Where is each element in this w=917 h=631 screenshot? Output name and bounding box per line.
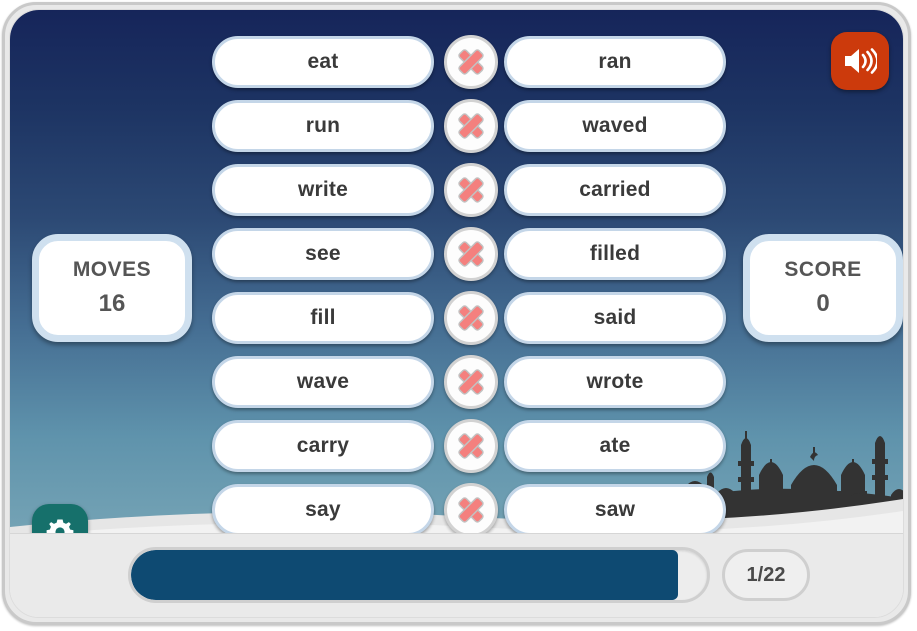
word-pair-row: seefilled (212, 228, 726, 280)
moves-panel: MOVES 16 (32, 234, 192, 342)
progress-bar[interactable] (128, 547, 710, 603)
word-pill-right[interactable]: saw (504, 484, 726, 536)
score-value: 0 (816, 290, 829, 318)
word-pill-right[interactable]: carried (504, 164, 726, 216)
x-icon[interactable] (444, 483, 498, 537)
word-pill-left[interactable]: say (212, 484, 434, 536)
game-screen: MOVES 16 SCORE 0 (0, 0, 917, 631)
x-glyph (459, 50, 483, 74)
x-icon[interactable] (444, 163, 498, 217)
moves-label: MOVES (73, 258, 151, 282)
word-pair-row: saysaw (212, 484, 726, 536)
play-area: MOVES 16 SCORE 0 (10, 10, 903, 557)
word-pill-right[interactable]: waved (504, 100, 726, 152)
progress-area: 1/22 (128, 547, 810, 603)
x-glyph (459, 498, 483, 522)
word-pill-left[interactable]: eat (212, 36, 434, 88)
x-glyph (459, 114, 483, 138)
word-pair-row: eatran (212, 36, 726, 88)
speaker-icon (843, 46, 877, 76)
word-pair-row: runwaved (212, 100, 726, 152)
x-icon[interactable] (444, 419, 498, 473)
word-pill-left[interactable]: carry (212, 420, 434, 472)
sound-button[interactable] (831, 32, 889, 90)
moves-value: 16 (99, 290, 126, 318)
word-pair-row: fillsaid (212, 292, 726, 344)
word-pill-right[interactable]: ran (504, 36, 726, 88)
word-pair-row: carryate (212, 420, 726, 472)
progress-bar-fill (131, 550, 678, 600)
word-pill-left[interactable]: wave (212, 356, 434, 408)
score-panel: SCORE 0 (743, 234, 903, 342)
game-frame: MOVES 16 SCORE 0 (2, 2, 911, 625)
word-pair-row: wavewrote (212, 356, 726, 408)
word-pill-right[interactable]: ate (504, 420, 726, 472)
word-pill-left[interactable]: write (212, 164, 434, 216)
game-frame-inner: MOVES 16 SCORE 0 (9, 9, 904, 618)
x-glyph (459, 370, 483, 394)
word-pill-left[interactable]: fill (212, 292, 434, 344)
x-icon[interactable] (444, 291, 498, 345)
x-glyph (459, 434, 483, 458)
word-pill-right[interactable]: said (504, 292, 726, 344)
progress-badge: 1/22 (722, 549, 810, 601)
x-icon[interactable] (444, 227, 498, 281)
x-icon[interactable] (444, 355, 498, 409)
word-pair-row: writecarried (212, 164, 726, 216)
x-glyph (459, 242, 483, 266)
x-glyph (459, 178, 483, 202)
word-pill-right[interactable]: filled (504, 228, 726, 280)
word-pill-right[interactable]: wrote (504, 356, 726, 408)
score-label: SCORE (784, 258, 861, 282)
word-pill-left[interactable]: run (212, 100, 434, 152)
x-icon[interactable] (444, 99, 498, 153)
x-glyph (459, 306, 483, 330)
bottom-bar: 1/22 (10, 533, 903, 617)
word-pill-left[interactable]: see (212, 228, 434, 280)
x-icon[interactable] (444, 35, 498, 89)
